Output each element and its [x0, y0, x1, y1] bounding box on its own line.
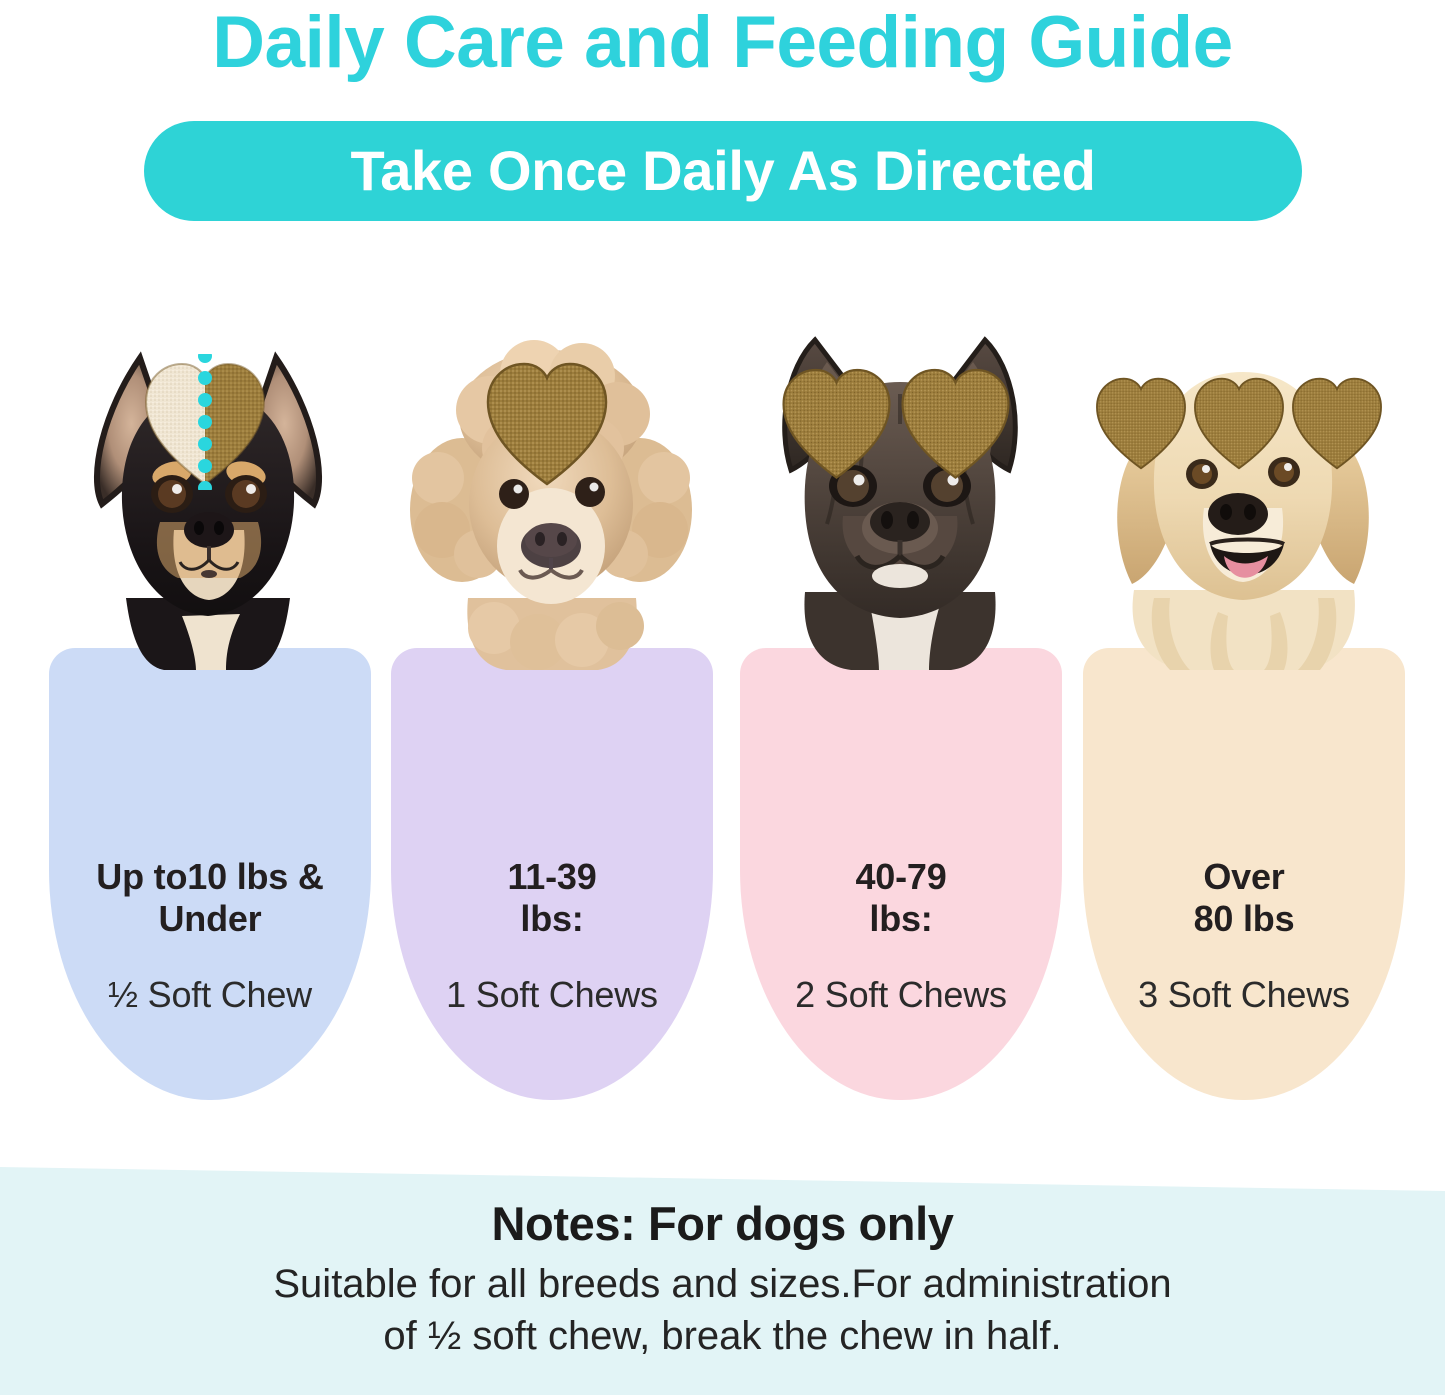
chew-row-3: [1078, 352, 1400, 492]
page-title: Daily Care and Feeding Guide: [0, 2, 1445, 84]
feeding-guide-infographic: Daily Care and Feeding Guide Take Once D…: [0, 0, 1445, 1395]
notes-body: Suitable for all breeds and sizes.For ad…: [0, 1258, 1445, 1362]
chew-heart-icon: [1094, 371, 1188, 473]
split-dotted-line: [198, 354, 212, 490]
chew-heart-icon: [899, 361, 1012, 483]
dosage-cards-row: Up to10 lbs & Under ½ Soft Chew: [0, 300, 1445, 1140]
chew-heart-icon: [484, 354, 610, 490]
tag-card-3: [1083, 648, 1405, 1100]
dosage-card-3: Over 80 lbs 3 Soft Chews: [1078, 300, 1408, 1140]
notes-line-1: Suitable for all breeds and sizes.For ad…: [0, 1258, 1445, 1310]
dosage-card-0: Up to10 lbs & Under ½ Soft Chew: [44, 300, 374, 1140]
chew-heart-icon: [1290, 371, 1384, 473]
subtitle-text: Take Once Daily As Directed: [350, 143, 1095, 199]
chew-row-1: [386, 352, 708, 492]
chew-row-2: [735, 352, 1057, 492]
half-chew-icon: [142, 354, 268, 490]
dosage-card-1: 11-39 lbs: 1 Soft Chews: [386, 300, 716, 1140]
tag-card-2: [740, 648, 1062, 1100]
chew-heart-icon: [780, 361, 893, 483]
tag-card-0: [49, 648, 371, 1100]
notes-line-2: of ½ soft chew, break the chew in half.: [0, 1310, 1445, 1362]
dosage-card-2: 40-79 lbs: 2 Soft Chews: [735, 300, 1065, 1140]
chew-row-0: [44, 352, 366, 492]
chew-heart-icon: [1192, 371, 1286, 473]
notes-title: Notes: For dogs only: [0, 1196, 1445, 1251]
subtitle-banner: Take Once Daily As Directed: [144, 121, 1302, 221]
tag-card-1: [391, 648, 713, 1100]
